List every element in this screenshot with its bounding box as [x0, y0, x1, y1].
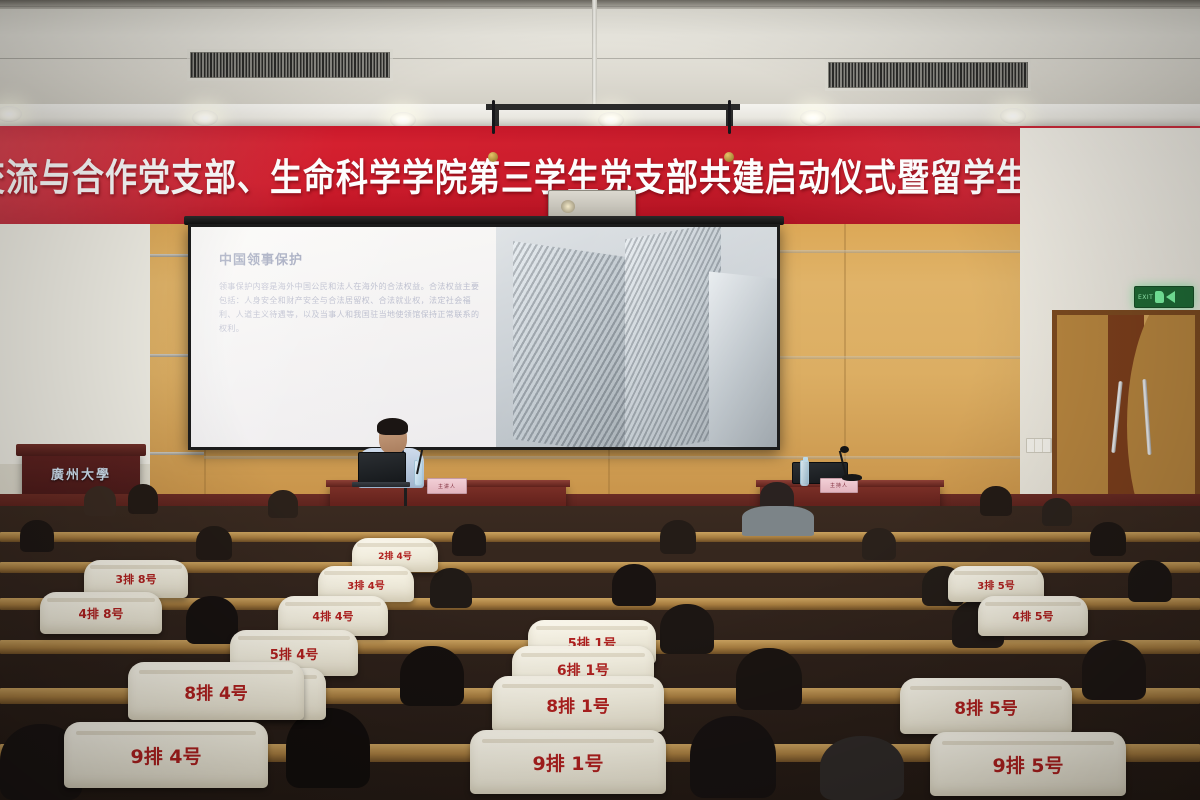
microphone-head	[840, 446, 849, 453]
seat-label: 8排 4号	[184, 679, 248, 704]
audience-person	[660, 520, 696, 554]
microphone-base	[842, 474, 862, 481]
building-shape	[709, 272, 777, 447]
seat-cover: 4排 5号	[978, 596, 1088, 636]
seat-label: 4排 4号	[312, 608, 353, 624]
audience-person	[1082, 640, 1146, 700]
seat-label: 3排 5号	[977, 577, 1014, 592]
running-man-icon	[1155, 291, 1164, 303]
seat-label: 3排 4号	[347, 577, 384, 592]
seat-cover: 9排 5号	[930, 732, 1126, 796]
seat-cover: 4排 8号	[40, 592, 162, 634]
panel-seam	[844, 224, 846, 494]
audience-person	[286, 708, 370, 788]
lecture-hall-photo: 国际交流与合作党支部、生命科学学院第三学生党支部共建启动仪式暨留学生领事保护知识…	[0, 0, 1200, 800]
water-bottle	[800, 460, 809, 486]
ceiling	[0, 0, 1200, 118]
ceiling-seam	[0, 6, 1200, 7]
laptop-lid	[358, 452, 406, 484]
door-curve-inlay	[1127, 315, 1195, 523]
wall-trim	[150, 452, 204, 455]
projector-rail	[486, 104, 740, 110]
laptop-base	[352, 482, 410, 487]
building-glass	[625, 227, 721, 447]
audience-person	[980, 486, 1012, 516]
air-vent-icon	[828, 62, 1028, 88]
audience-person	[196, 526, 232, 560]
audience-person	[862, 528, 896, 560]
audience-person	[1042, 498, 1072, 526]
audience-person	[186, 596, 238, 644]
light-switch-panel[interactable]	[1026, 438, 1052, 453]
seat-cover: 9排 1号	[470, 730, 666, 794]
speaker-name-placard: 主讲人	[427, 478, 467, 494]
downlight-icon	[1000, 108, 1026, 124]
seat-label: 5排 4号	[270, 644, 319, 663]
audience-person	[1128, 560, 1172, 602]
seat-label: 9排 4号	[130, 742, 201, 769]
bench-desk-row	[0, 532, 1200, 542]
seat-cover: 9排 4号	[64, 722, 268, 788]
seat-label: 9排 5号	[992, 751, 1063, 778]
exit-sign-label: EXIT	[1138, 294, 1153, 301]
seat-label: 8排 5号	[954, 694, 1018, 719]
lectern-calligraphy: 廣州大學	[22, 464, 140, 483]
audience-person	[660, 604, 714, 654]
building-glass	[513, 241, 626, 447]
seat-label: 2排 4号	[378, 549, 412, 562]
wall-trim	[204, 456, 1020, 459]
banner-cable	[492, 100, 495, 134]
seat-label: 9排 1号	[532, 749, 603, 776]
seat-cover: 8排 1号	[492, 676, 664, 732]
ceiling-seam	[0, 58, 1200, 59]
slide-image	[496, 227, 777, 447]
audience-person	[736, 648, 802, 710]
seat-cover: 8排 5号	[900, 678, 1072, 734]
audience-person	[452, 524, 486, 556]
lectern-top	[16, 444, 146, 456]
slide-title: 中国领事保护	[219, 249, 482, 268]
left-wall	[0, 224, 152, 464]
audience-person	[612, 564, 656, 606]
seat-label: 4排 5号	[1012, 608, 1053, 624]
audience-person-shoulders	[742, 506, 814, 536]
projection-screen: 中国领事保护 领事保护内容是海外中国公民和法人在海外的合法权益。合法权益主要包括…	[188, 224, 780, 450]
seat-label: 8排 1号	[546, 692, 610, 717]
seat-label: 4排 8号	[79, 605, 124, 622]
downlight-icon	[800, 110, 826, 126]
ceiling-edge-beam	[0, 0, 1200, 9]
seat-label: 3排 8号	[115, 571, 156, 587]
downlight-icon	[192, 110, 218, 126]
audience-person	[400, 646, 464, 706]
audience-person	[128, 484, 158, 514]
audience-person	[690, 716, 776, 798]
speaker-hair	[377, 418, 408, 435]
exit-arrow-icon	[1166, 291, 1175, 303]
seat-cover: 8排 4号	[128, 662, 304, 720]
slide-body-text: 领事保护内容是海外中国公民和法人在海外的合法权益。合法权益主要包括：人身安全和财…	[219, 280, 482, 336]
audience-person	[20, 520, 54, 552]
slide: 中国领事保护 领事保护内容是海外中国公民和法人在海外的合法权益。合法权益主要包括…	[191, 227, 777, 447]
banner-tie-knot	[488, 152, 498, 162]
door-leaf-right[interactable]	[1126, 315, 1195, 523]
ceiling-support-pole	[592, 0, 597, 118]
exit-sign: EXIT	[1134, 286, 1194, 308]
banner-tie-knot	[724, 152, 734, 162]
audience-person	[268, 490, 298, 518]
audience-person	[820, 736, 904, 800]
audience-person	[84, 486, 116, 516]
audience-person	[430, 568, 472, 608]
audience-person	[1090, 522, 1126, 556]
banner-cable	[728, 100, 731, 134]
air-vent-icon	[190, 52, 390, 78]
